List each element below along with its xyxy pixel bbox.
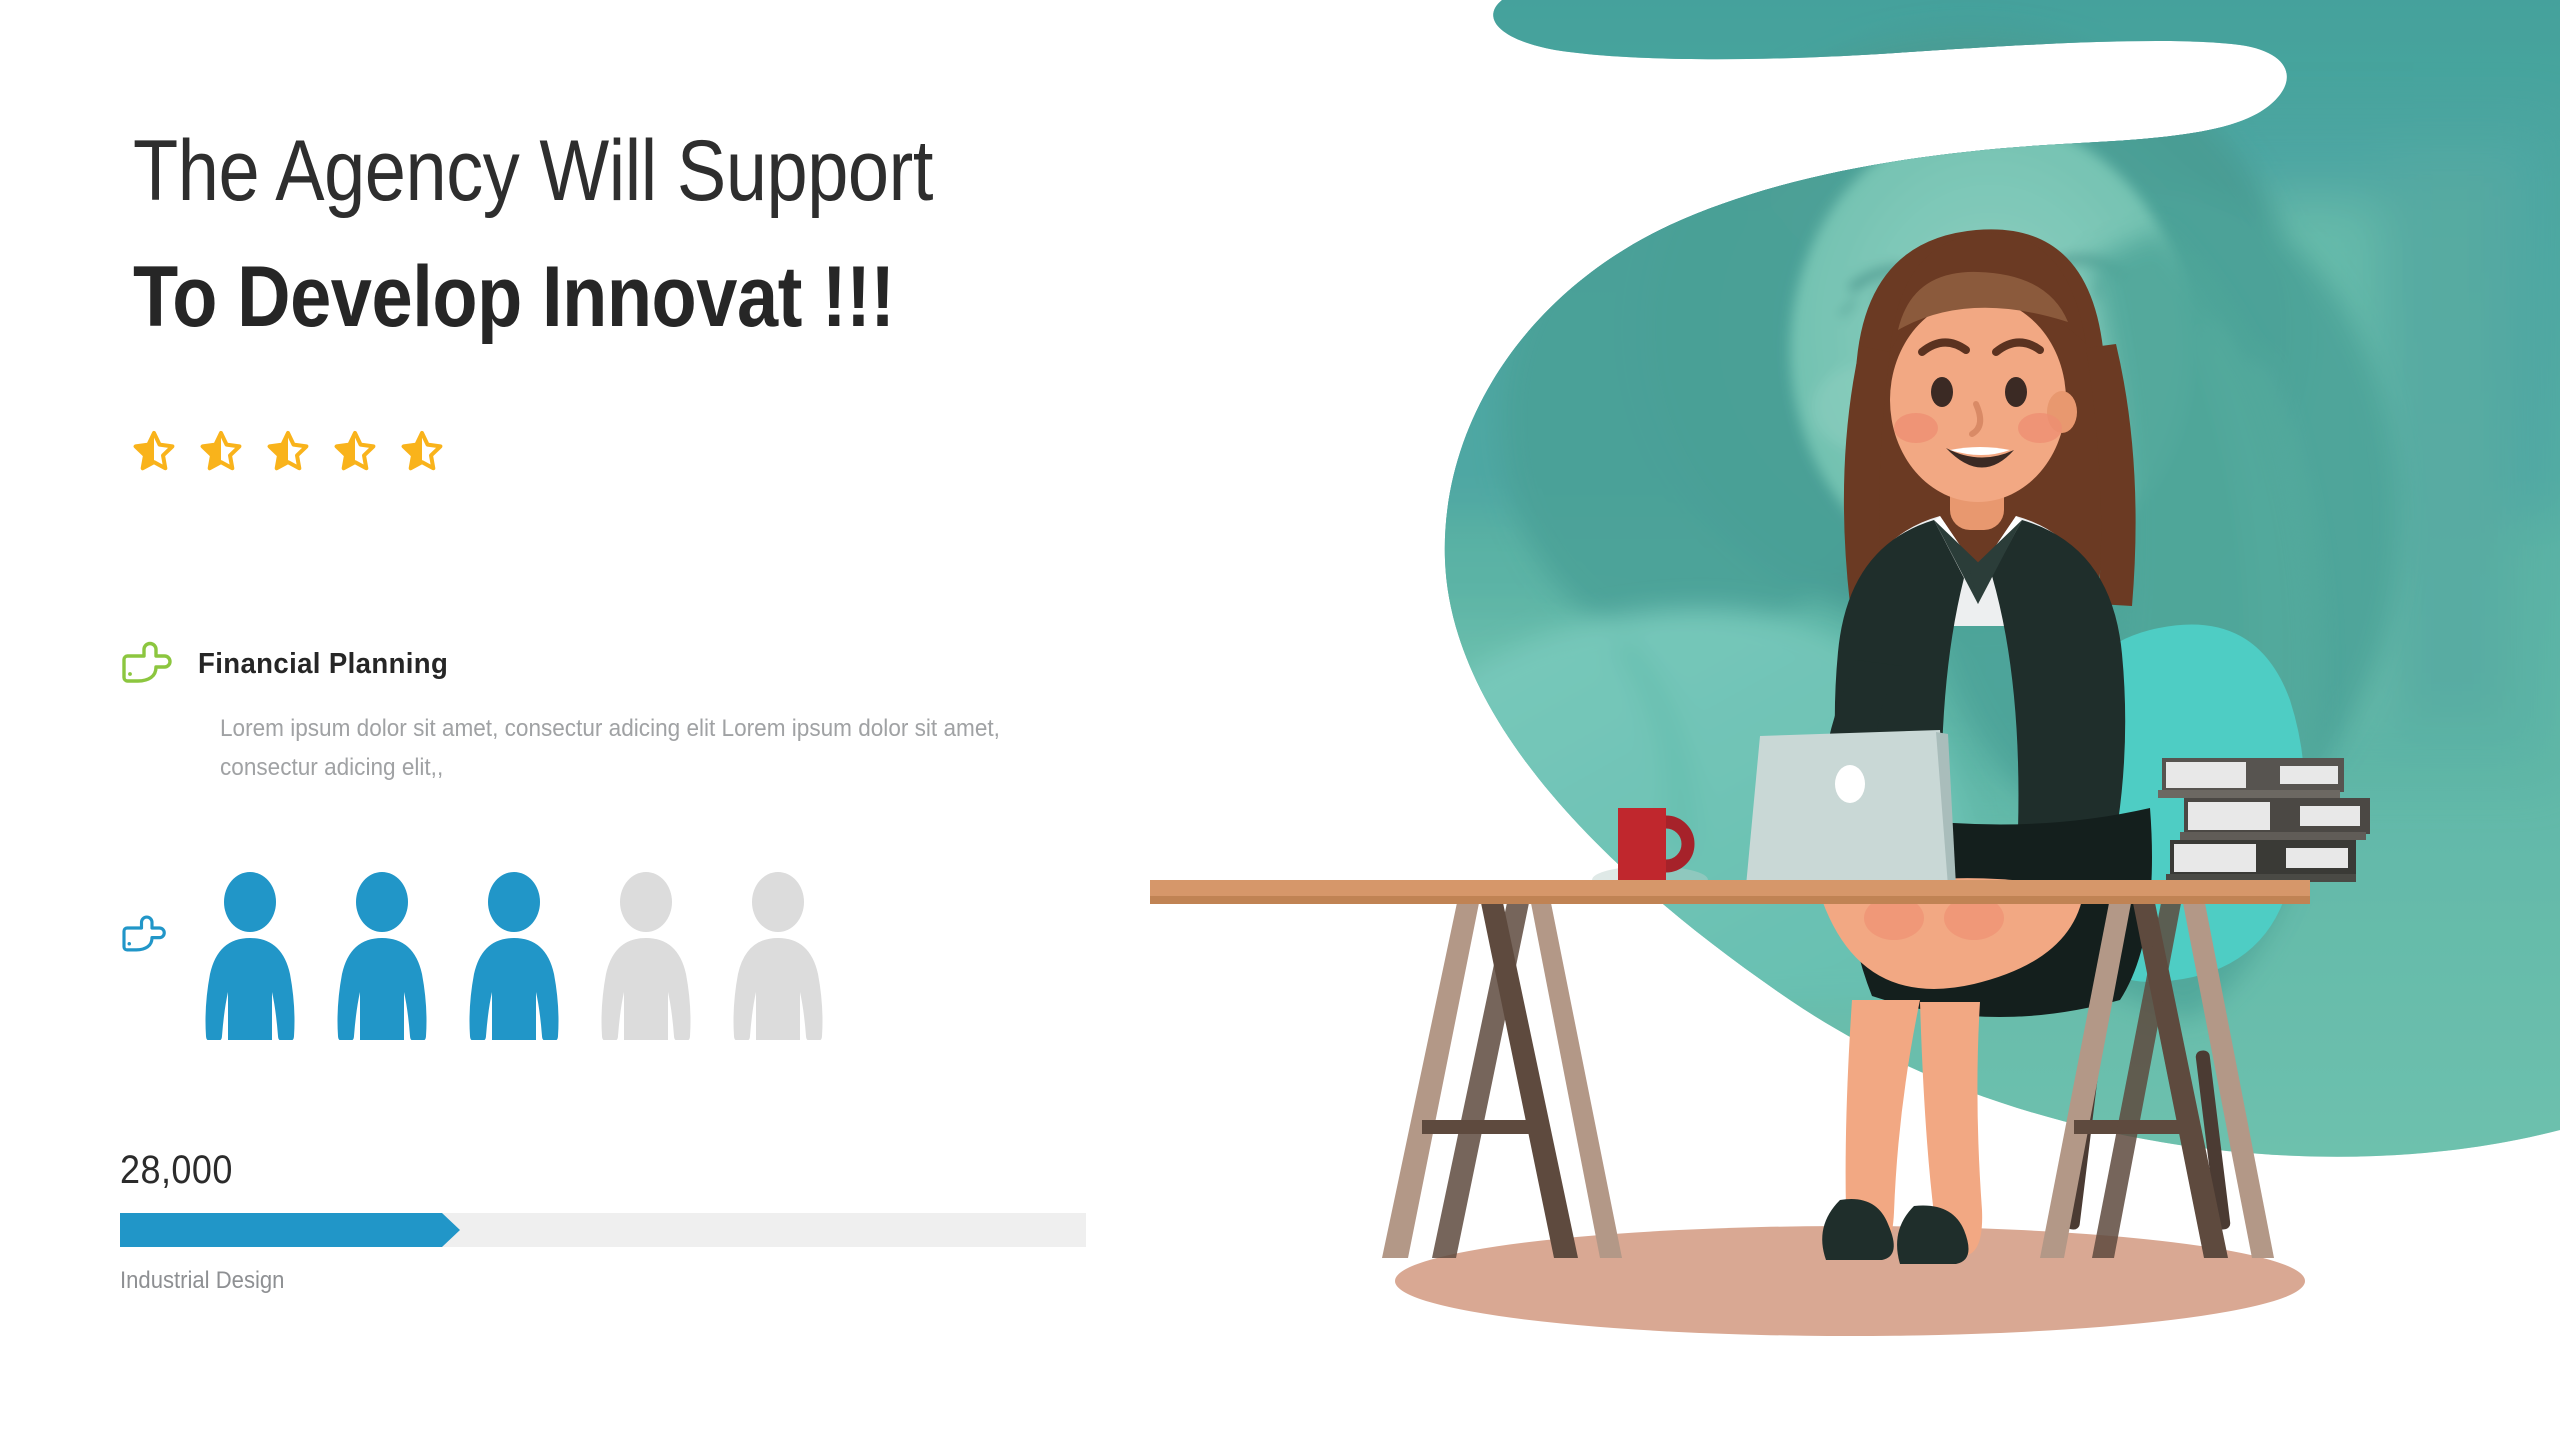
pointing-hand-icon (122, 640, 174, 688)
desk-leg-left (1382, 898, 1622, 1258)
headline-line-1: The Agency Will Support (133, 128, 1148, 214)
slide-canvas: The Agency Will Support To Develop Innov… (0, 0, 2560, 1440)
progress-stat-block: 28,000 Industrial Design (120, 1148, 1120, 1295)
person-icon-filled (460, 872, 568, 1040)
progress-bar-fill (120, 1213, 460, 1247)
pointing-hand-icon (122, 914, 168, 956)
person-icon-empty (724, 872, 832, 1040)
feature-heading-row: Financial Planning (122, 640, 1102, 688)
star-icon[interactable] (131, 428, 177, 474)
star-icon[interactable] (332, 428, 378, 474)
star-icon[interactable] (198, 428, 244, 474)
people-stat-row (122, 872, 832, 1040)
person-icon-filled (196, 872, 304, 1040)
person-icon-filled (328, 872, 436, 1040)
star-rating[interactable] (131, 428, 445, 474)
illustration-panel (1150, 0, 2560, 1440)
people-pictogram-group (196, 872, 832, 1040)
feature-description: Lorem ipsum dolor sit amet, consectur ad… (220, 710, 1061, 788)
feature-title: Financial Planning (198, 648, 448, 681)
progress-bar-track[interactable] (120, 1213, 1086, 1247)
person-icon-empty (592, 872, 700, 1040)
feature-block: Financial Planning Lorem ipsum dolor sit… (122, 640, 1102, 788)
left-content-column: The Agency Will Support To Develop Innov… (0, 0, 1200, 1440)
headline-line-2: To Develop Innovat !!! (133, 254, 1148, 340)
star-icon[interactable] (265, 428, 311, 474)
progress-value: 28,000 (120, 1148, 1020, 1193)
book-stack (2158, 758, 2370, 882)
progress-label: Industrial Design (120, 1267, 1040, 1295)
page-title: The Agency Will Support To Develop Innov… (133, 128, 1313, 340)
star-icon[interactable] (399, 428, 445, 474)
laptop (1738, 730, 1964, 892)
